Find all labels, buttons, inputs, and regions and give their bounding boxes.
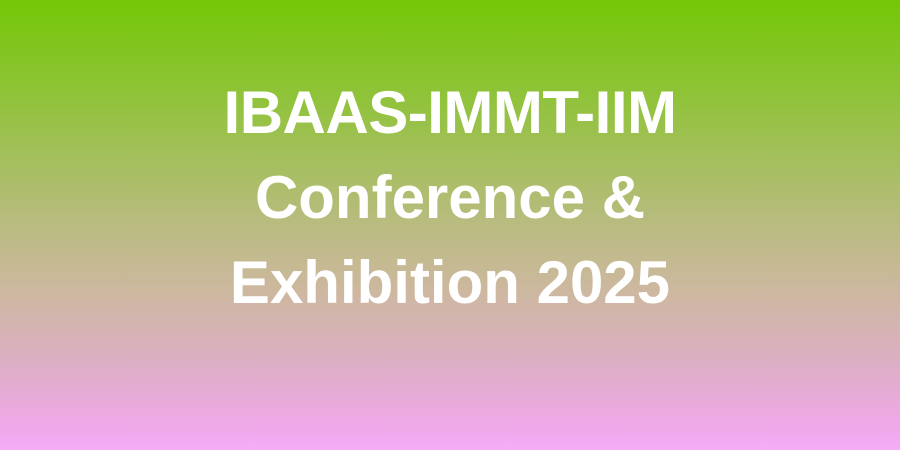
headline-line-organizations: IBAAS-IMMT-IIM — [224, 70, 677, 155]
headline-line-event-year: Exhibition 2025 — [230, 240, 670, 325]
headline-line-event-type: Conference & — [255, 155, 645, 240]
headline-block: IBAAS-IMMT-IIM Conference & Exhibition 2… — [0, 0, 900, 450]
conference-banner: IBAAS-IMMT-IIM Conference & Exhibition 2… — [0, 0, 900, 450]
